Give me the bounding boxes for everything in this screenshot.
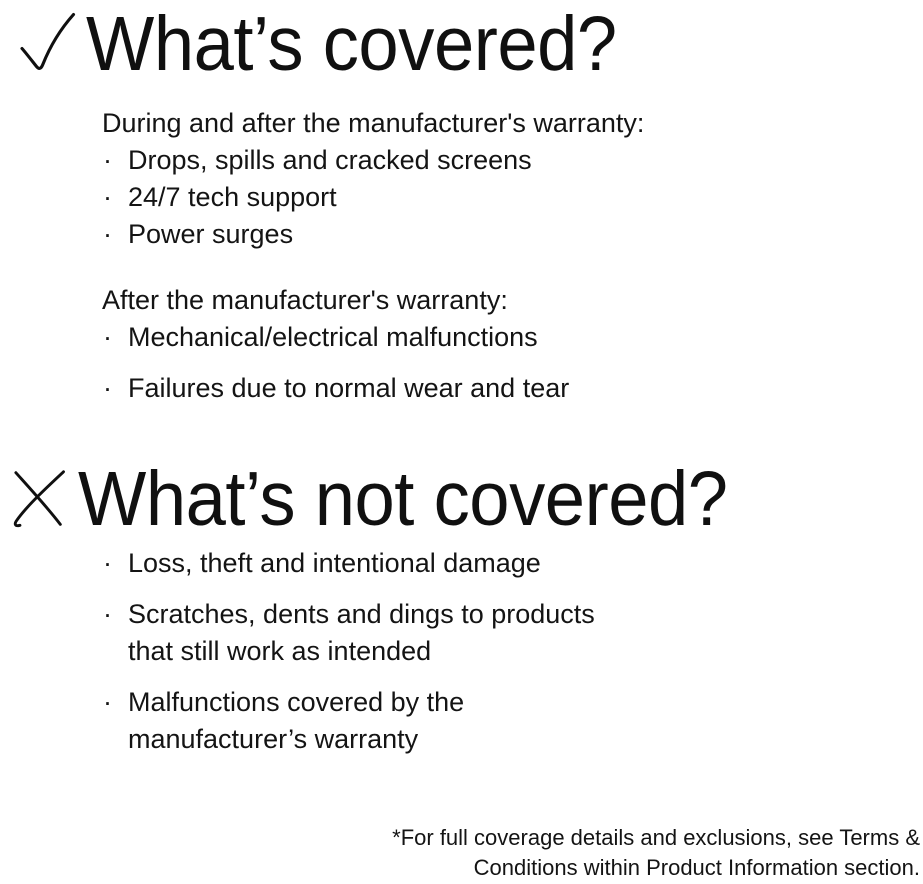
- bullet-glyph: ·: [103, 319, 112, 356]
- list-item-label: Drops, spills and cracked screens: [128, 142, 892, 179]
- list-item: · Drops, spills and cracked screens: [102, 142, 892, 179]
- list-item: · Loss, theft and intentional damage: [102, 545, 892, 582]
- coverage-group-not-covered: · Loss, theft and intentional damage · S…: [102, 545, 892, 758]
- list-item-label: Malfunctions covered by the manufacturer…: [128, 684, 892, 758]
- footnote-line-1: *For full coverage details and exclusion…: [320, 823, 920, 853]
- bullet-list: · Loss, theft and intentional damage · S…: [102, 545, 892, 758]
- bullet-glyph: ·: [103, 179, 112, 216]
- cross-icon: [0, 456, 78, 542]
- list-item-label: 24/7 tech support: [128, 179, 892, 216]
- section-header-covered: What’s covered?: [8, 6, 651, 83]
- group-intro: After the manufacturer's warranty:: [102, 281, 892, 319]
- list-item: · 24/7 tech support: [102, 179, 892, 216]
- list-item-line-2: manufacturer’s warranty: [128, 721, 892, 758]
- bullet-glyph: ·: [103, 545, 112, 582]
- list-item-label: Power surges: [128, 216, 892, 253]
- coverage-group-after: After the manufacturer's warranty: · Mec…: [102, 281, 892, 407]
- list-item-line-1: Malfunctions covered by the: [128, 687, 464, 717]
- list-item: · Mechanical/electrical malfunctions: [102, 319, 892, 356]
- section-title-covered: What’s covered?: [86, 6, 617, 83]
- list-item: · Malfunctions covered by the manufactur…: [102, 684, 892, 758]
- checkmark-icon: [8, 8, 86, 82]
- section-title-not-covered: What’s not covered?: [78, 461, 728, 538]
- list-item-label: Scratches, dents and dings to products t…: [128, 596, 892, 670]
- list-item-label: Loss, theft and intentional damage: [128, 545, 892, 582]
- bullet-glyph: ·: [103, 216, 112, 253]
- group-intro: During and after the manufacturer's warr…: [102, 104, 892, 142]
- list-item: · Failures due to normal wear and tear: [102, 370, 892, 407]
- footnote-disclaimer: *For full coverage details and exclusion…: [320, 823, 920, 883]
- list-item-label: Failures due to normal wear and tear: [128, 370, 892, 407]
- list-item: · Scratches, dents and dings to products…: [102, 596, 892, 670]
- bullet-glyph: ·: [103, 370, 112, 407]
- bullet-glyph: ·: [103, 596, 112, 633]
- bullet-list: · Drops, spills and cracked screens · 24…: [102, 142, 892, 253]
- warranty-coverage-panel: What’s covered? During and after the man…: [0, 0, 923, 884]
- list-item-line-1: Scratches, dents and dings to products: [128, 599, 595, 629]
- coverage-group-during-and-after: During and after the manufacturer's warr…: [102, 104, 892, 253]
- bullet-glyph: ·: [103, 142, 112, 179]
- list-item-line-2: that still work as intended: [128, 633, 892, 670]
- list-item-label: Mechanical/electrical malfunctions: [128, 319, 892, 356]
- section-header-not-covered: What’s not covered?: [0, 456, 769, 542]
- bullet-glyph: ·: [103, 684, 112, 721]
- bullet-list: · Mechanical/electrical malfunctions · F…: [102, 319, 892, 407]
- list-item: · Power surges: [102, 216, 892, 253]
- footnote-line-2: Conditions within Product Information se…: [320, 853, 920, 883]
